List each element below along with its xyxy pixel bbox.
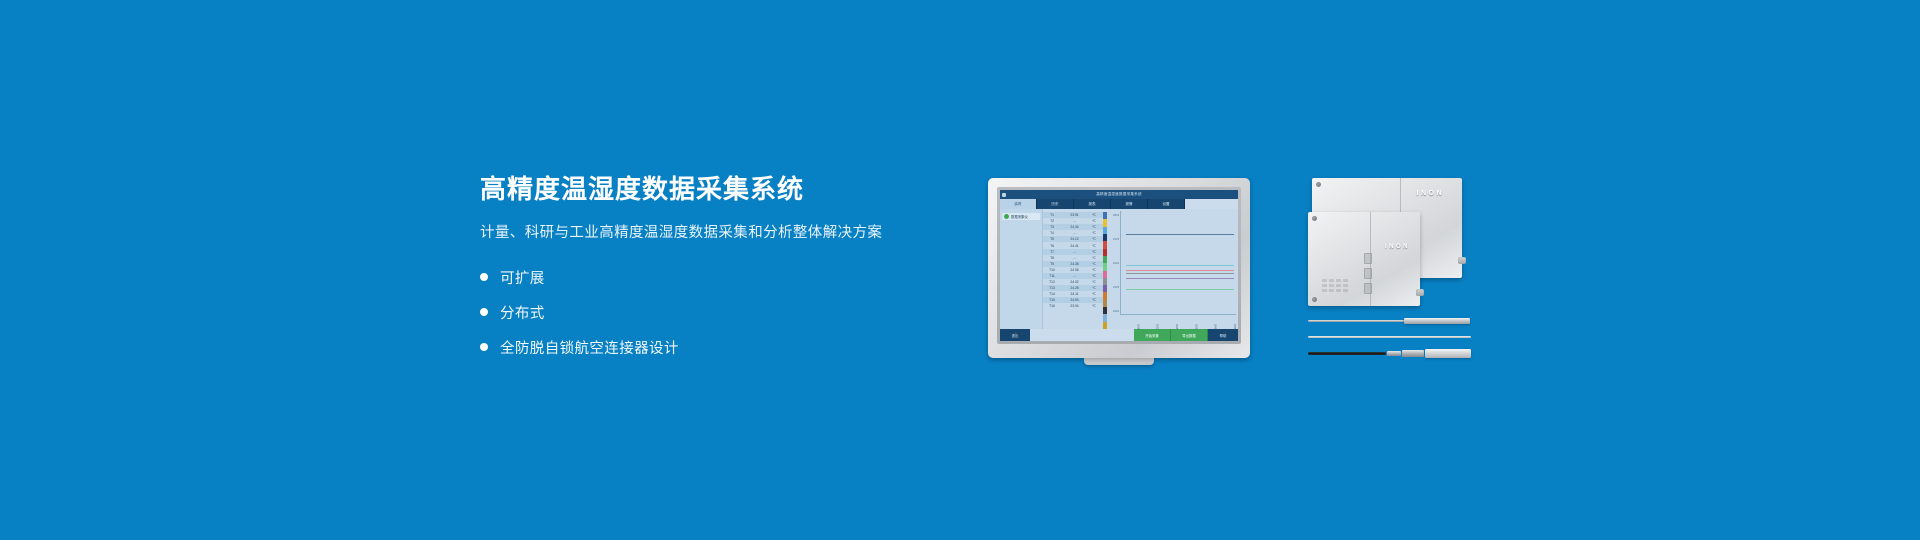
- bullet-icon: [480, 308, 488, 316]
- sidebar-item-device[interactable]: 数据采集仪: [1002, 213, 1040, 220]
- chart-series-line: [1126, 265, 1234, 266]
- connector-port: [1416, 289, 1424, 296]
- tab-history[interactable]: 历史: [1037, 199, 1074, 209]
- terminal-block-grid: [1322, 279, 1348, 292]
- panel-monitor-product-image: 高精度温湿度数据采集系统 实时 历史 报表 报警 设置: [988, 178, 1250, 358]
- channel-unit: ℃: [1088, 304, 1100, 308]
- brand-logo: INON: [1417, 190, 1445, 197]
- sensor-probe-product-image: [1308, 316, 1473, 368]
- chart-plot-area: 25.024.524.023.523.0: [1108, 211, 1236, 315]
- channel-unit: ℃: [1088, 219, 1100, 223]
- channel-name: T7: [1043, 250, 1061, 254]
- channel-name: T11: [1043, 274, 1061, 278]
- channel-unit: ℃: [1088, 274, 1100, 278]
- app-titlebar: 高精度温湿度数据采集系统: [1000, 190, 1238, 199]
- channel-name: T14: [1043, 292, 1061, 296]
- channel-value: --: [1061, 250, 1088, 254]
- tab-bar-filler: [1185, 199, 1238, 209]
- app-bottom-bar: 退出 开始采集 导出数据 帮助: [1000, 329, 1238, 341]
- channel-value: 24.28: [1061, 286, 1088, 290]
- channel-name: T2: [1043, 219, 1061, 223]
- channel-name: T15: [1043, 298, 1061, 302]
- chart-x-axis: 10:0510:1510:2510:3510:4510:55: [1108, 315, 1236, 329]
- channel-name: T8: [1043, 256, 1061, 260]
- channel-value: 23.91: [1061, 213, 1088, 217]
- channel-unit: ℃: [1088, 231, 1100, 235]
- banner-copy-block: 高精度温湿度数据采集系统 计量、科研与工业高精度温湿度数据采集和分析整体解决方案…: [480, 175, 950, 379]
- list-item: 可扩展: [480, 262, 950, 293]
- channel-value: 24.12: [1061, 237, 1088, 241]
- monitor-inner-bezel: 高精度温湿度数据采集系统 实时 历史 报表 报警 设置: [997, 187, 1241, 344]
- data-logger-product-image: INON INON: [1308, 176, 1473, 311]
- channel-name: T1: [1043, 213, 1061, 217]
- connector-slot: [1364, 283, 1372, 294]
- sidebar-item-label: 数据采集仪: [1011, 214, 1028, 219]
- channel-unit: ℃: [1088, 250, 1100, 254]
- probe-ferrule: [1387, 351, 1401, 356]
- terminal-cell: [1343, 289, 1348, 292]
- channel-name: T4: [1043, 231, 1061, 235]
- terminal-cell: [1329, 279, 1334, 282]
- page-title: 高精度温湿度数据采集系统: [480, 175, 950, 204]
- x-axis-tick-label: 10:55: [1217, 315, 1236, 329]
- probe-sensor-tip: [1404, 318, 1470, 324]
- channel-name: T10: [1043, 268, 1061, 272]
- y-axis-tick-label: 24.0: [1113, 261, 1119, 265]
- page-subtitle: 计量、科研与工业高精度温湿度数据采集和分析整体解决方案: [480, 221, 950, 242]
- export-data-button[interactable]: 导出数据: [1171, 329, 1208, 341]
- terminal-cell: [1322, 284, 1327, 287]
- chart-series-line: [1126, 234, 1234, 235]
- y-axis-tick-label: 25.0: [1113, 213, 1119, 217]
- channel-value: --: [1061, 274, 1088, 278]
- feature-list: 可扩展 分布式 全防脱自锁航空连接器设计: [480, 262, 950, 363]
- y-axis-tick-label: 24.5: [1113, 237, 1119, 241]
- tab-report[interactable]: 报表: [1074, 199, 1111, 209]
- channel-unit: ℃: [1088, 292, 1100, 296]
- connector-column: [1364, 253, 1372, 294]
- list-item: [1308, 349, 1473, 358]
- chart-canvas: [1120, 211, 1236, 315]
- feature-label: 可扩展: [500, 267, 545, 288]
- terminal-cell: [1336, 279, 1341, 282]
- channel-unit: ℃: [1088, 244, 1100, 248]
- channel-name: T16: [1043, 304, 1061, 308]
- channel-unit: ℃: [1088, 256, 1100, 260]
- channel-value: 24.02: [1061, 280, 1088, 284]
- connector-port: [1458, 257, 1466, 264]
- chart-series-line: [1126, 270, 1234, 271]
- x-axis-tick-label: 10:35: [1178, 315, 1197, 329]
- monitor-screen: 高精度温湿度数据采集系统 实时 历史 报表 报警 设置: [1000, 190, 1238, 341]
- terminal-cell: [1322, 289, 1327, 292]
- terminal-cell: [1329, 289, 1334, 292]
- channel-value: 24.41: [1061, 244, 1088, 248]
- chart-series-line: [1126, 273, 1234, 274]
- trend-chart: 25.024.524.023.523.0 10:0510:1510:2510:3…: [1107, 209, 1238, 329]
- terminal-cell: [1322, 279, 1327, 282]
- channel-unit: ℃: [1088, 298, 1100, 302]
- feature-label: 全防脱自锁航空连接器设计: [500, 337, 679, 358]
- terminal-cell: [1336, 284, 1341, 287]
- vendor-logo-icon: [1012, 331, 1019, 338]
- probe-black-cable: [1308, 352, 1386, 355]
- probe-thin-cable: [1308, 336, 1471, 338]
- screw-icon: [1312, 216, 1317, 221]
- channel-value: --: [1061, 219, 1088, 223]
- start-acquisition-button[interactable]: 开始采集: [1134, 329, 1171, 341]
- channel-name: T3: [1043, 225, 1061, 229]
- channel-name: T6: [1043, 244, 1061, 248]
- chart-series-line: [1126, 278, 1234, 279]
- channel-value: 23.94: [1061, 304, 1088, 308]
- connected-status-icon: [1004, 214, 1009, 219]
- channel-name: T12: [1043, 280, 1061, 284]
- screw-icon: [1312, 297, 1317, 302]
- channel-unit: ℃: [1088, 280, 1100, 284]
- help-button[interactable]: 帮助: [1208, 329, 1238, 341]
- device-tree-sidebar: 数据采集仪: [1000, 209, 1043, 329]
- screw-icon: [1316, 182, 1321, 187]
- channel-value: --: [1061, 231, 1088, 235]
- channel-value: --: [1061, 256, 1088, 260]
- terminal-cell: [1343, 279, 1348, 282]
- channel-unit: ℃: [1088, 213, 1100, 217]
- channel-unit: ℃: [1088, 268, 1100, 272]
- app-body: 数据采集仪 T123.91℃T2--℃T324.34℃T4--℃T524.12℃…: [1000, 209, 1238, 329]
- channel-name: T5: [1043, 237, 1061, 241]
- x-axis-tick-label: 10:25: [1159, 315, 1178, 329]
- tab-settings[interactable]: 设置: [1148, 199, 1185, 209]
- probe-collar: [1402, 350, 1424, 357]
- y-axis-tick-label: 23.5: [1113, 285, 1119, 289]
- channel-value: 24.34: [1061, 225, 1088, 229]
- channel-readout-table: T123.91℃T2--℃T324.34℃T4--℃T524.12℃T624.4…: [1043, 209, 1103, 329]
- terminal-cell: [1343, 284, 1348, 287]
- channel-value: 24.38: [1061, 262, 1088, 266]
- tab-alarm[interactable]: 报警: [1111, 199, 1148, 209]
- monitor-bezel: 高精度温湿度数据采集系统 实时 历史 报表 报警 设置: [988, 178, 1250, 358]
- chart-series-line: [1126, 289, 1234, 290]
- channel-value: 24.90: [1061, 298, 1088, 302]
- brand-logo: INON: [1385, 244, 1410, 250]
- terminal-cell: [1329, 284, 1334, 287]
- channel-value: 24.06: [1061, 268, 1088, 272]
- aviation-connector-barrel: [1425, 349, 1471, 358]
- list-item: 全防脱自锁航空连接器设计: [480, 332, 950, 363]
- data-logger-box-front: INON: [1308, 212, 1420, 306]
- list-item: 分布式: [480, 297, 950, 328]
- tab-realtime[interactable]: 实时: [1000, 199, 1037, 209]
- channel-unit: ℃: [1088, 237, 1100, 241]
- bullet-icon: [480, 273, 488, 281]
- channel-unit: ℃: [1088, 286, 1100, 290]
- connector-slot: [1364, 253, 1372, 264]
- x-axis-tick-label: 10:05: [1120, 315, 1139, 329]
- probe-shaft: [1308, 320, 1404, 323]
- feature-label: 分布式: [500, 302, 545, 323]
- chart-y-axis: 25.024.524.023.523.0: [1108, 211, 1120, 315]
- channel-unit: ℃: [1088, 262, 1100, 266]
- monitor-stand: [1084, 357, 1154, 365]
- channel-value: 24.11: [1061, 292, 1088, 296]
- list-item: [1308, 318, 1473, 324]
- product-banner: 高精度温湿度数据采集系统 计量、科研与工业高精度温湿度数据采集和分析整体解决方案…: [0, 0, 1920, 540]
- y-axis-tick-label: 23.0: [1113, 309, 1119, 313]
- terminal-cell: [1336, 289, 1341, 292]
- channel-name: T9: [1043, 262, 1061, 266]
- list-item: [1308, 336, 1473, 338]
- table-row[interactable]: T1623.94℃: [1043, 303, 1103, 309]
- connector-slot: [1364, 268, 1372, 279]
- channel-unit: ℃: [1088, 225, 1100, 229]
- app-title: 高精度温湿度数据采集系统: [1000, 192, 1238, 197]
- bullet-icon: [480, 343, 488, 351]
- x-axis-tick-label: 10:45: [1197, 315, 1216, 329]
- x-axis-tick-label: 10:15: [1139, 315, 1158, 329]
- app-tab-bar: 实时 历史 报表 报警 设置: [1000, 199, 1238, 209]
- channel-name: T13: [1043, 286, 1061, 290]
- bottom-bar-gap: [1030, 329, 1134, 341]
